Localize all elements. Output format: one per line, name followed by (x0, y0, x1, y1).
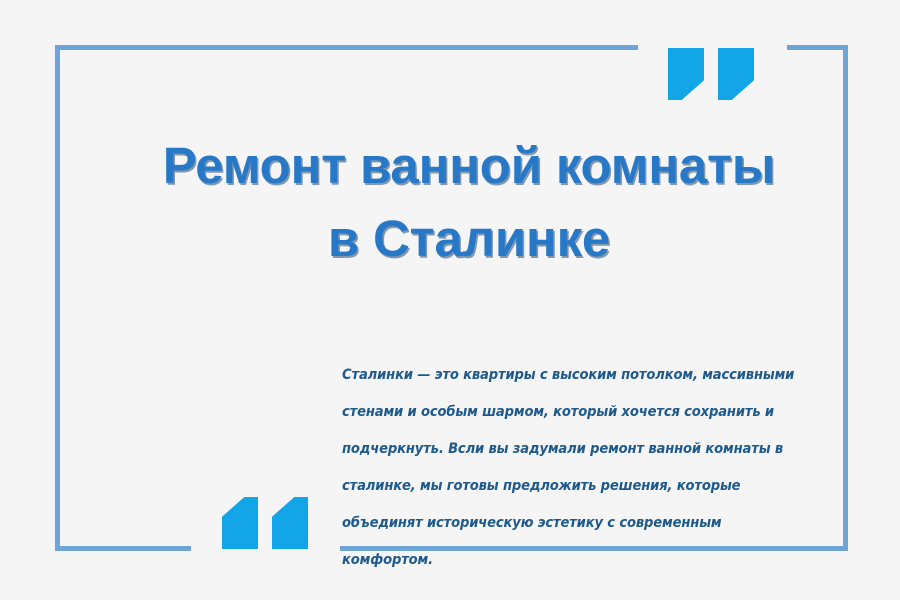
frame-border-top-left (55, 45, 638, 50)
slide-canvas: Ремонт ванной комнаты в Сталинке Сталинк… (0, 0, 900, 600)
page-title: Ремонт ванной комнаты в Сталинке (60, 130, 878, 275)
quote-mark-icon (718, 48, 754, 100)
frame-border-bottom-left (55, 546, 191, 551)
frame-border-top-right (787, 45, 848, 50)
quote-mark-top-group (668, 48, 754, 100)
quote-mark-icon (222, 497, 258, 549)
quote-mark-icon (668, 48, 704, 100)
frame-border-left (55, 45, 60, 551)
quote-mark-icon (272, 497, 308, 549)
intro-paragraph: Сталинки — это квартиры с высоким потолк… (342, 356, 812, 578)
frame-border-right (843, 45, 848, 551)
quote-mark-bottom-group (222, 497, 308, 549)
